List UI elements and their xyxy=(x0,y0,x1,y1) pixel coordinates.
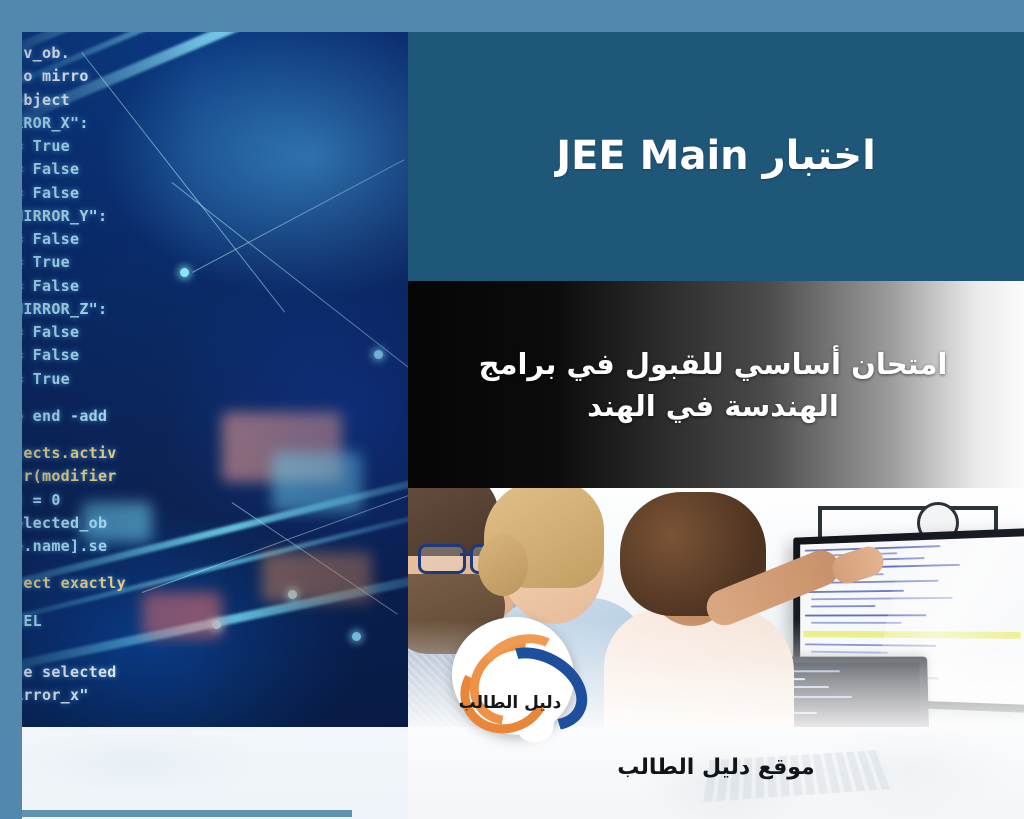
code-line: t = 0 xyxy=(22,489,264,512)
code-line: MIRROR_Y": xyxy=(22,205,264,228)
circuit-node xyxy=(352,632,361,641)
code-line: = True xyxy=(22,135,264,158)
bottom-accent-strip xyxy=(0,810,352,817)
frame-top-border xyxy=(0,0,1024,32)
code-line: he selected xyxy=(22,661,264,684)
code-line: = True xyxy=(22,251,264,274)
site-logo[interactable]: دليل الطالب xyxy=(452,617,574,735)
code-line: = False xyxy=(22,344,264,367)
bokeh-blur xyxy=(272,452,362,512)
code-line: = False xyxy=(22,158,264,181)
code-line: object xyxy=(22,89,264,112)
code-line: to mirro xyxy=(22,65,264,88)
code-text-overlay: -v_ob. to mirro object RROR_X": = True =… xyxy=(22,42,264,707)
code-line: MIRROR_Z": xyxy=(22,298,264,321)
code-line: e end -add xyxy=(22,405,264,428)
code-line: SEL xyxy=(22,610,264,633)
code-line: = False xyxy=(22,275,264,298)
code-line: lect exactly xyxy=(22,572,264,595)
code-line: RROR_X": xyxy=(22,112,264,135)
code-line: irror_x" xyxy=(22,684,264,707)
code-line: = True xyxy=(22,368,264,391)
bottom-left-ghost-image xyxy=(18,728,348,806)
code-line: = False xyxy=(22,321,264,344)
code-line: -v_ob. xyxy=(22,42,264,65)
subtitle-band: امتحان أساسي للقبول في برامج الهندسة في … xyxy=(408,281,1024,488)
code-line: = False xyxy=(22,182,264,205)
title-band: اختبار JEE Main xyxy=(408,32,1024,281)
wall-rail xyxy=(818,506,998,510)
site-caption: موقع دليل الطالب xyxy=(408,755,1024,780)
infographic-card: -v_ob. to mirro object RROR_X": = True =… xyxy=(0,0,1024,819)
frame-left-border xyxy=(0,0,22,819)
subtitle-text: امتحان أساسي للقبول في برامج الهندسة في … xyxy=(438,342,988,426)
code-line: tr(modifier xyxy=(22,465,264,488)
code-line: e.name].se xyxy=(22,535,264,558)
circuit-node xyxy=(374,350,383,359)
logo-text: دليل الطالب xyxy=(452,693,568,713)
code-line: jects.activ xyxy=(22,442,264,465)
page-title: اختبار JEE Main xyxy=(408,133,1024,179)
bokeh-blur xyxy=(262,552,372,602)
code-line: = False xyxy=(22,228,264,251)
code-line: elected_ob xyxy=(22,512,264,535)
code-photo-panel: -v_ob. to mirro object RROR_X": = True =… xyxy=(22,32,408,727)
